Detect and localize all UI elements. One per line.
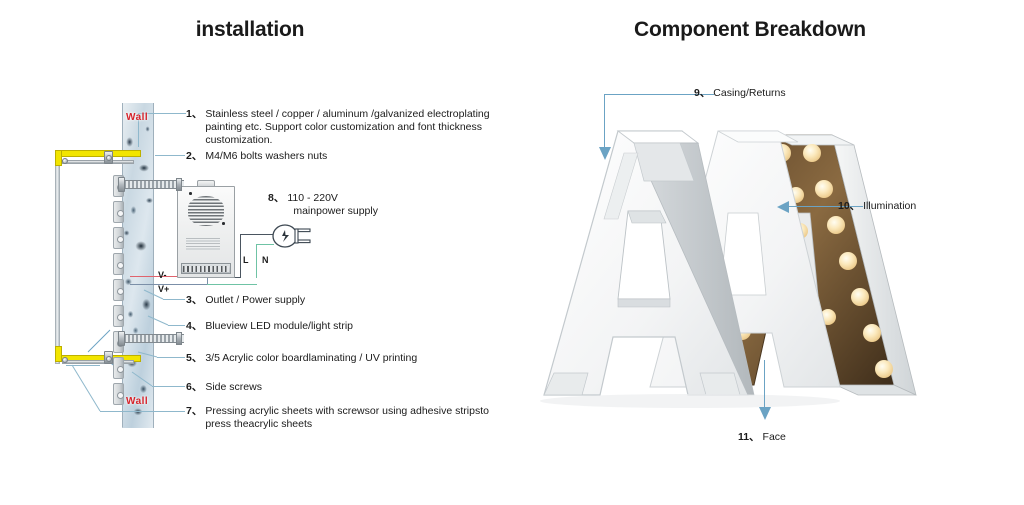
component-breakdown-illustration (520, 95, 940, 425)
page-title-installation: installation (150, 18, 350, 42)
power-supply-spec-label (186, 238, 220, 250)
wire-live-horizontal (240, 234, 274, 235)
wall-label-bottom: Wall (126, 396, 148, 407)
power-supply-screw-dot (222, 222, 225, 225)
leader-line-5 (157, 357, 185, 358)
callout-8-line1: 110 - 220V (287, 192, 338, 204)
power-supply-screw-dot (189, 192, 192, 195)
terminal-label-live: L (243, 255, 249, 265)
callout-10: 10、 Illumination (838, 198, 916, 213)
through-bolt-upper (124, 180, 184, 189)
led-module-strip (113, 175, 124, 405)
callout-6: 6、 Side screws (186, 381, 486, 394)
callout-11: 11、 Face (738, 429, 786, 444)
side-screw-bottom-left (62, 357, 68, 363)
callout-6-text: Side screws (205, 381, 486, 394)
through-bolt-lower-nut (176, 332, 182, 345)
through-bolt-lower (124, 334, 184, 343)
arrow-11-head (759, 407, 771, 420)
bottom-bracket-tip (55, 346, 62, 362)
through-bolt-lower-head (118, 331, 125, 346)
led-module (113, 357, 124, 379)
led-module (113, 279, 124, 301)
callout-11-number: 11、 (738, 431, 760, 443)
callout-1-text: Stainless steel / copper / aluminum /gal… (205, 108, 496, 146)
callout-8-number: 8、 (268, 192, 284, 205)
callout-5: 5、 3/5 Acrylic color boardlaminating / U… (186, 352, 486, 365)
leader-line-3 (163, 299, 185, 300)
callout-2-text: M4/M6 bolts washers nuts (205, 150, 486, 163)
terminal-label-v-minus: V- (158, 270, 167, 280)
callout-3-text: Outlet / Power supply (205, 294, 486, 307)
callout-1-number: 1、 (186, 108, 202, 121)
mains-plug-icon (272, 222, 312, 250)
diagram-canvas: installation Component Breakdown Wall Wa… (0, 0, 1024, 505)
callout-5-text: 3/5 Acrylic color boardlaminating / UV p… (205, 352, 486, 365)
power-supply-cap (197, 180, 215, 187)
leader-line-7-b (66, 365, 100, 366)
led-module (113, 383, 124, 405)
callout-11-text: Face (763, 431, 786, 443)
callout-9: 9、 Casing/Returns (694, 85, 786, 100)
callout-8-mainpower-supply: 8、 110 - 220V mainpower supply (268, 192, 388, 218)
callout-7-number: 7、 (186, 405, 202, 418)
callout-4-number: 4、 (186, 320, 202, 333)
callout-8-line2: mainpower supply (287, 205, 378, 218)
arrow-9-head (599, 147, 611, 160)
power-supply-vent-grille (188, 196, 224, 226)
led-module (113, 253, 124, 275)
wire-neutral-vertical (256, 244, 257, 278)
leader-line-2 (155, 155, 185, 156)
callout-2-number: 2、 (186, 150, 202, 163)
callout-7-text: Pressing acrylic sheets with screwsor us… (205, 405, 496, 431)
callout-7: 7、 Pressing acrylic sheets with screwsor… (186, 405, 496, 431)
callout-9-number: 9、 (694, 87, 710, 99)
callout-3: 3、 Outlet / Power supply (186, 294, 486, 307)
callout-9-text: Casing/Returns (713, 87, 785, 99)
side-screw-top-left (62, 158, 68, 164)
letter-assembly-svg (520, 95, 940, 425)
ground-shadow (540, 394, 840, 408)
led-module (113, 227, 124, 249)
through-bolt-upper-nut (176, 178, 182, 191)
callout-1: 1、 Stainless steel / copper / aluminum /… (186, 108, 496, 146)
page-title-component-breakdown: Component Breakdown (600, 18, 900, 42)
terminal-label-v-plus: V+ (158, 284, 169, 294)
callout-3-number: 3、 (186, 294, 202, 307)
top-bracket-arm (55, 150, 141, 157)
top-support-bar (62, 160, 134, 164)
callout-4-text: Blueview LED module/light strip (205, 320, 486, 333)
led-module (113, 305, 124, 327)
through-bolt-upper-head (118, 177, 125, 192)
arrow-11-vertical (764, 360, 765, 410)
callout-4: 4、 Blueview LED module/light strip (186, 320, 486, 333)
arrow-9-vertical (604, 94, 605, 149)
callout-6-number: 6、 (186, 381, 202, 394)
arrow-10-head (776, 199, 792, 215)
wire-ac-bottom-neutral (207, 284, 257, 285)
wire-live-vertical (240, 234, 241, 278)
power-supply-terminal-block (181, 263, 231, 274)
top-bracket-tip (55, 150, 62, 166)
callout-10-text: Illumination (863, 200, 916, 212)
leader-line-4 (168, 325, 185, 326)
callout-10-number: 10、 (838, 200, 860, 212)
callout-8-text: 110 - 220V mainpower supply (287, 192, 388, 218)
callout-5-number: 5、 (186, 352, 202, 365)
side-screw-top-mid (106, 155, 112, 161)
terminal-label-neutral: N (262, 255, 269, 265)
leader-line-6 (152, 386, 185, 387)
led-module (113, 201, 124, 223)
callout-2: 2、 M4/M6 bolts washers nuts (186, 150, 486, 163)
leader-line-7 (100, 411, 185, 412)
wall-label-top: Wall (126, 112, 148, 123)
acrylic-face-sheet (55, 152, 60, 364)
side-screw-bottom-mid (106, 356, 112, 362)
